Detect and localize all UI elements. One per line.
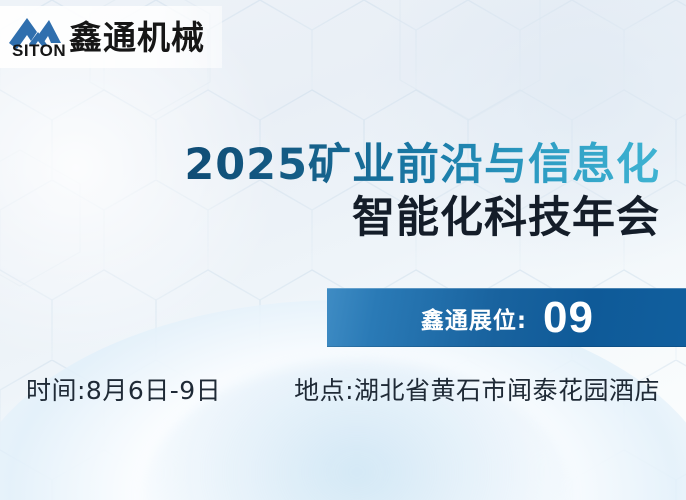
headline-line-2: 智能化科技年会 — [184, 193, 660, 245]
headline-block: 2025矿业前沿与信息化 智能化科技年会 — [184, 140, 660, 244]
logo-latin-text: SITON — [12, 41, 66, 61]
booth-number: 09 — [543, 296, 594, 340]
event-date: 时间:8月6日-9日 — [26, 371, 221, 407]
mountain-peak-icon: SITON — [6, 12, 64, 62]
booth-label: 鑫通展位: — [421, 301, 527, 335]
headline-line-1: 2025矿业前沿与信息化 — [184, 140, 660, 191]
event-venue: 地点:湖北省黄石市闻泰花园酒店 — [294, 371, 660, 407]
event-poster: SITON 鑫通机械 2025矿业前沿与信息化 智能化科技年会 鑫通展位: 09… — [0, 0, 686, 500]
booth-banner: 鑫通展位: 09 — [327, 288, 686, 347]
logo-chinese-text: 鑫通机械 — [69, 21, 205, 54]
footer-info: 时间:8月6日-9日 地点:湖北省黄石市闻泰花园酒店 — [26, 371, 660, 407]
brand-logo: SITON 鑫通机械 — [0, 6, 222, 68]
